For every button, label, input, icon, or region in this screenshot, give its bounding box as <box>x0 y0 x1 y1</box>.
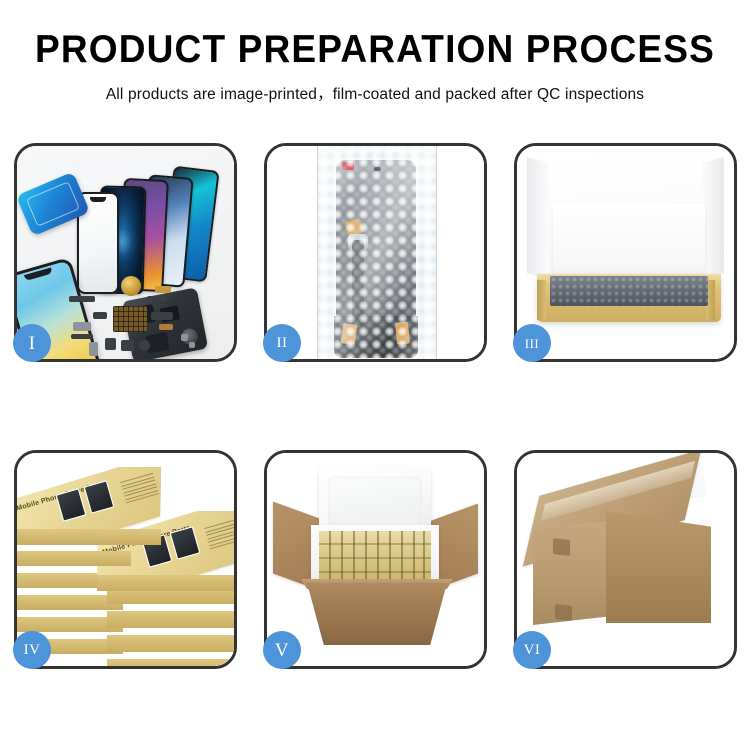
process-step-panel-6[interactable]: VI <box>514 450 737 669</box>
part-gold-flex <box>155 286 171 293</box>
process-step-panel-3[interactable]: III <box>514 143 737 362</box>
stacked-yellow-boxes-inside <box>319 531 431 583</box>
part-screw <box>189 342 195 348</box>
carton-notch-lower <box>555 604 572 621</box>
carton-notch-upper <box>553 538 570 556</box>
plastic-sheen <box>318 146 436 359</box>
bubble-wrap-bag <box>317 146 437 359</box>
step-badge-3: III <box>513 324 551 362</box>
box-edge <box>107 635 234 652</box>
box-edge <box>107 611 234 628</box>
step-badge-5: V <box>263 631 301 669</box>
panel-4-image: Mobile Phone Spare Parts Mobile Phone Sp… <box>17 453 234 666</box>
process-step-grid: I II <box>14 143 736 669</box>
kraft-tray-left-side <box>537 280 546 320</box>
part-strip <box>93 312 107 319</box>
step-badge-2: II <box>263 324 301 362</box>
panel-2-image <box>267 146 484 359</box>
part-strip <box>147 296 167 301</box>
part-screw <box>181 334 188 341</box>
part-tray <box>89 342 98 356</box>
small-parts-scatter <box>69 272 197 359</box>
part-strip <box>71 334 93 339</box>
white-box-lid-left-flap <box>527 157 549 278</box>
process-step-panel-1[interactable]: I <box>14 143 237 362</box>
part-vibrator <box>139 340 150 351</box>
page-subtitle: All products are image-printed，film-coat… <box>0 82 750 104</box>
retail-box-lower-front <box>97 575 234 591</box>
grey-bubble-pouch <box>550 276 708 306</box>
part-camera <box>121 340 134 351</box>
part-connector <box>151 312 173 320</box>
page-header: PRODUCT PREPARATION PROCESS All products… <box>0 0 750 104</box>
retail-box-stack: Mobile Phone Spare Parts Mobile Phone Sp… <box>17 467 234 663</box>
part-copper <box>159 324 173 330</box>
carton-body <box>307 583 447 645</box>
panel-3-image <box>517 146 734 359</box>
shipping-carton-right-face <box>606 511 711 623</box>
process-step-panel-4[interactable]: Mobile Phone Spare Parts Mobile Phone Sp… <box>14 450 237 669</box>
box-edge <box>107 659 234 666</box>
part-strip <box>69 296 95 302</box>
step-badge-4: IV <box>13 631 51 669</box>
process-step-panel-2[interactable]: II <box>264 143 487 362</box>
panel-1-image <box>17 146 234 359</box>
box-edge <box>17 551 131 566</box>
speaker-part-icon <box>121 276 141 296</box>
step-badge-6: VI <box>513 631 551 669</box>
retail-box-top-front <box>17 529 161 545</box>
panel-5-image <box>267 453 484 666</box>
white-box-lid-right-flap <box>702 157 724 278</box>
process-step-panel-5[interactable]: V <box>264 450 487 669</box>
part-button <box>105 338 116 350</box>
panel-6-image <box>517 453 734 666</box>
part-chip <box>73 322 91 331</box>
page-title: PRODUCT PREPARATION PROCESS <box>19 30 732 69</box>
mesh-chip-icon <box>113 306 147 332</box>
step-badge-1: I <box>13 324 51 362</box>
